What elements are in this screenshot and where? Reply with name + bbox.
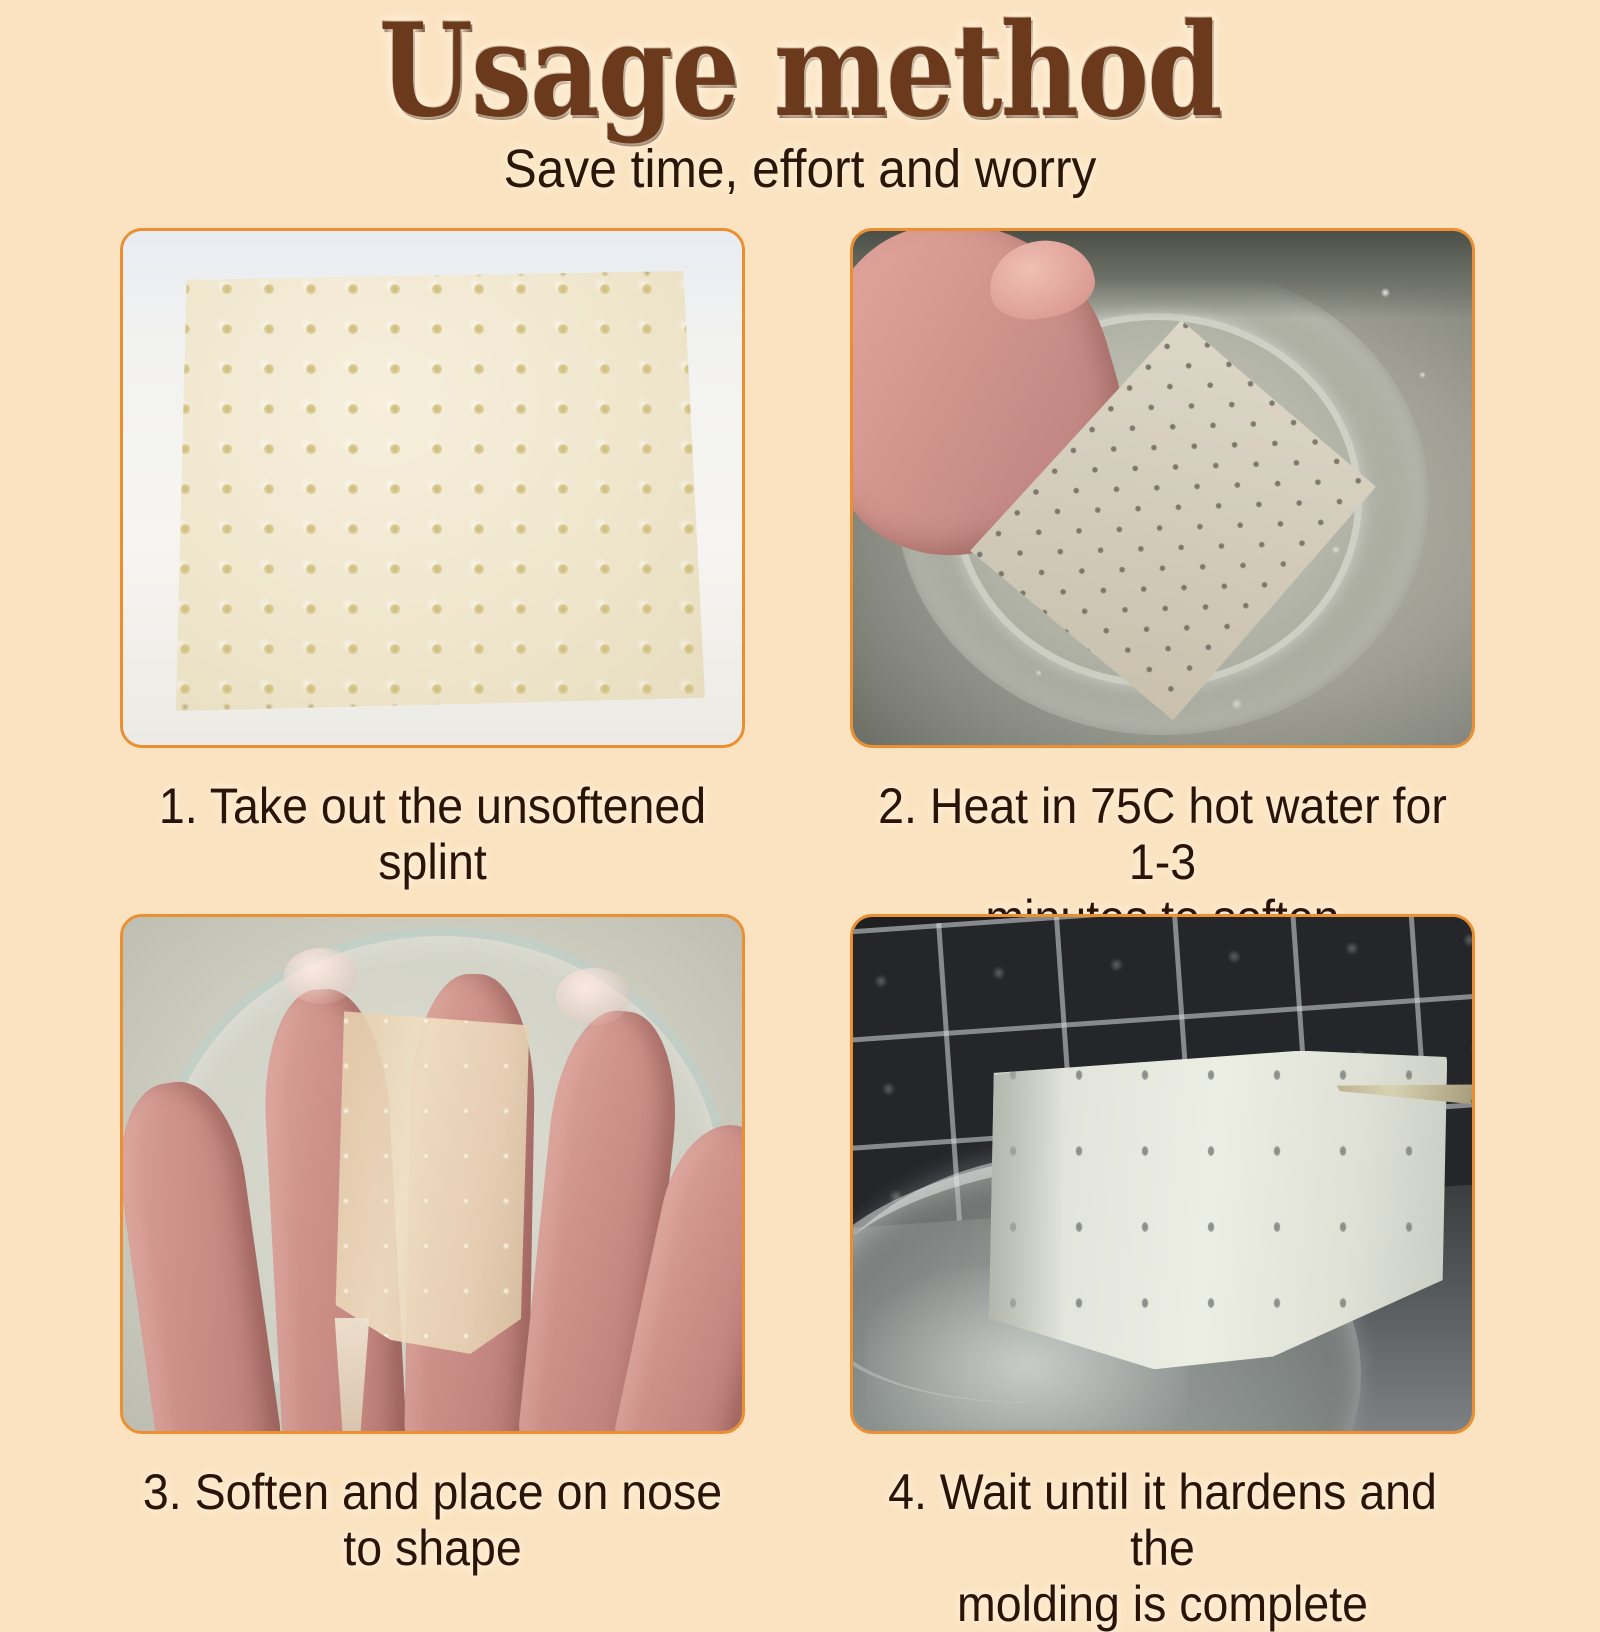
- step-card-3: 3. Soften and place on nose to shape: [120, 914, 745, 1594]
- fingertip-highlight: [556, 968, 630, 1025]
- step-3-caption: 3. Soften and place on nose to shape: [142, 1464, 723, 1594]
- step-2-photo: [853, 231, 1472, 745]
- softened-splint-sheet: [327, 1004, 537, 1354]
- steps-grid: 1. Take out the unsoftened splint 2. Hea…: [0, 228, 1600, 1594]
- page-subtitle: Save time, effort and worry: [64, 141, 1536, 198]
- page-title: Usage method: [128, 6, 1472, 137]
- step-3-photo-frame: [120, 914, 745, 1434]
- step-2-caption: 2. Heat in 75C hot water for 1-3 minutes…: [872, 778, 1453, 908]
- splint-sheet: [165, 271, 705, 711]
- perforation-holes: [165, 271, 705, 711]
- water-droplets: [853, 231, 1472, 745]
- step-4-photo-frame: [850, 914, 1475, 1434]
- step-1-photo: [123, 231, 742, 745]
- step-3-photo: [123, 917, 742, 1431]
- header: Usage method Save time, effort and worry: [0, 0, 1600, 197]
- step-card-4: 4. Wait until it hardens and the molding…: [850, 914, 1475, 1594]
- perforation-bumps: [327, 1004, 537, 1354]
- step-4-caption: 4. Wait until it hardens and the molding…: [872, 1464, 1453, 1594]
- step-1-caption: 1. Take out the unsoftened splint: [142, 778, 723, 908]
- step-2-photo-frame: [850, 228, 1475, 748]
- sheet-fold: [989, 1063, 1062, 1363]
- step-4-photo: [853, 917, 1472, 1431]
- fingertip-highlight: [284, 948, 358, 1005]
- step-card-2: 2. Heat in 75C hot water for 1-3 minutes…: [850, 228, 1475, 908]
- step-card-1: 1. Take out the unsoftened splint: [120, 228, 745, 908]
- step-1-photo-frame: [120, 228, 745, 748]
